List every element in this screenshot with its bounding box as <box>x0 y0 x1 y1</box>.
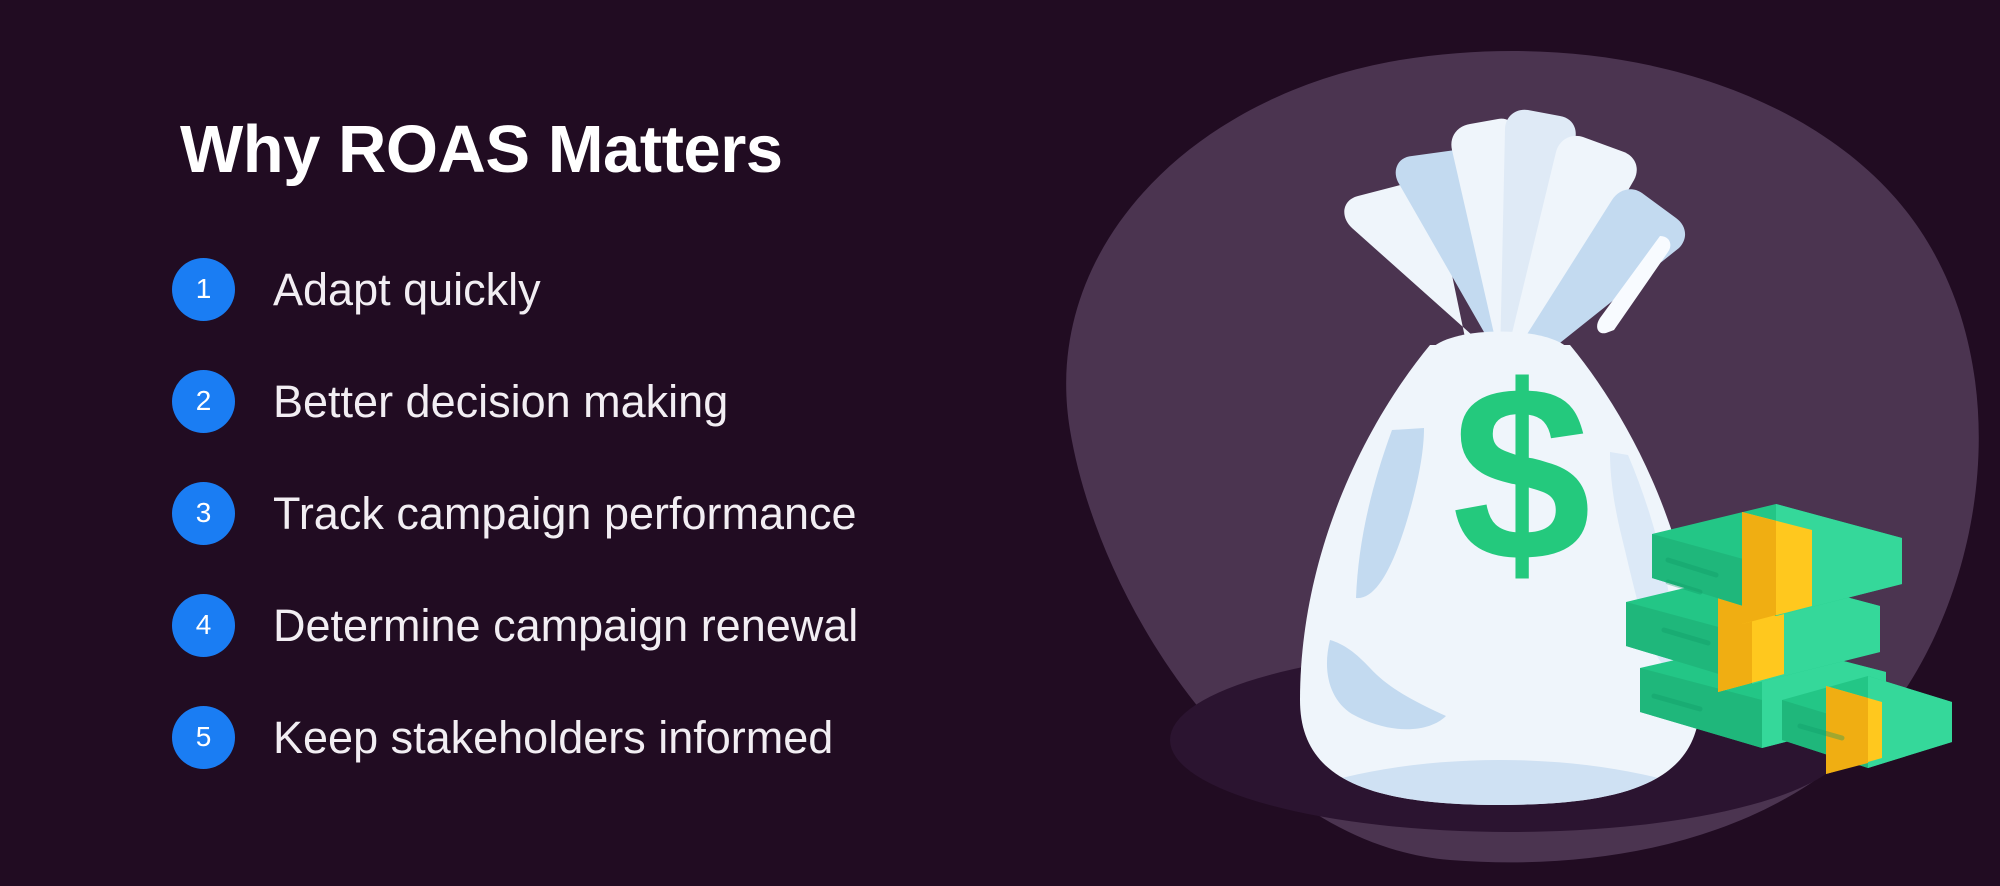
infographic-canvas: Why ROAS Matters 1Adapt quickly2Better d… <box>0 0 2000 886</box>
list-item-label: Track campaign performance <box>273 491 857 536</box>
list-item-number-badge: 3 <box>172 482 235 545</box>
list-item-number-badge: 1 <box>172 258 235 321</box>
content-panel: Why ROAS Matters 1Adapt quickly2Better d… <box>0 0 1010 886</box>
list-item-label: Determine campaign renewal <box>273 603 858 648</box>
money-bag-illustration: $ <box>1000 0 2000 886</box>
svg-text:$: $ <box>1452 334 1591 613</box>
list-item-number-badge: 2 <box>172 370 235 433</box>
list-item: 1Adapt quickly <box>172 233 992 345</box>
list-item-label: Keep stakeholders informed <box>273 715 833 760</box>
list-item-label: Adapt quickly <box>273 267 541 312</box>
list-item-number-badge: 5 <box>172 706 235 769</box>
list-item-label: Better decision making <box>273 379 728 424</box>
benefit-list: 1Adapt quickly2Better decision making3Tr… <box>172 233 992 793</box>
dollar-sign-icon: $ <box>1452 334 1591 613</box>
list-item-number-badge: 4 <box>172 594 235 657</box>
list-item: 5Keep stakeholders informed <box>172 681 992 793</box>
list-item: 2Better decision making <box>172 345 992 457</box>
list-item: 4Determine campaign renewal <box>172 569 992 681</box>
page-title: Why ROAS Matters <box>180 113 783 187</box>
list-item: 3Track campaign performance <box>172 457 992 569</box>
